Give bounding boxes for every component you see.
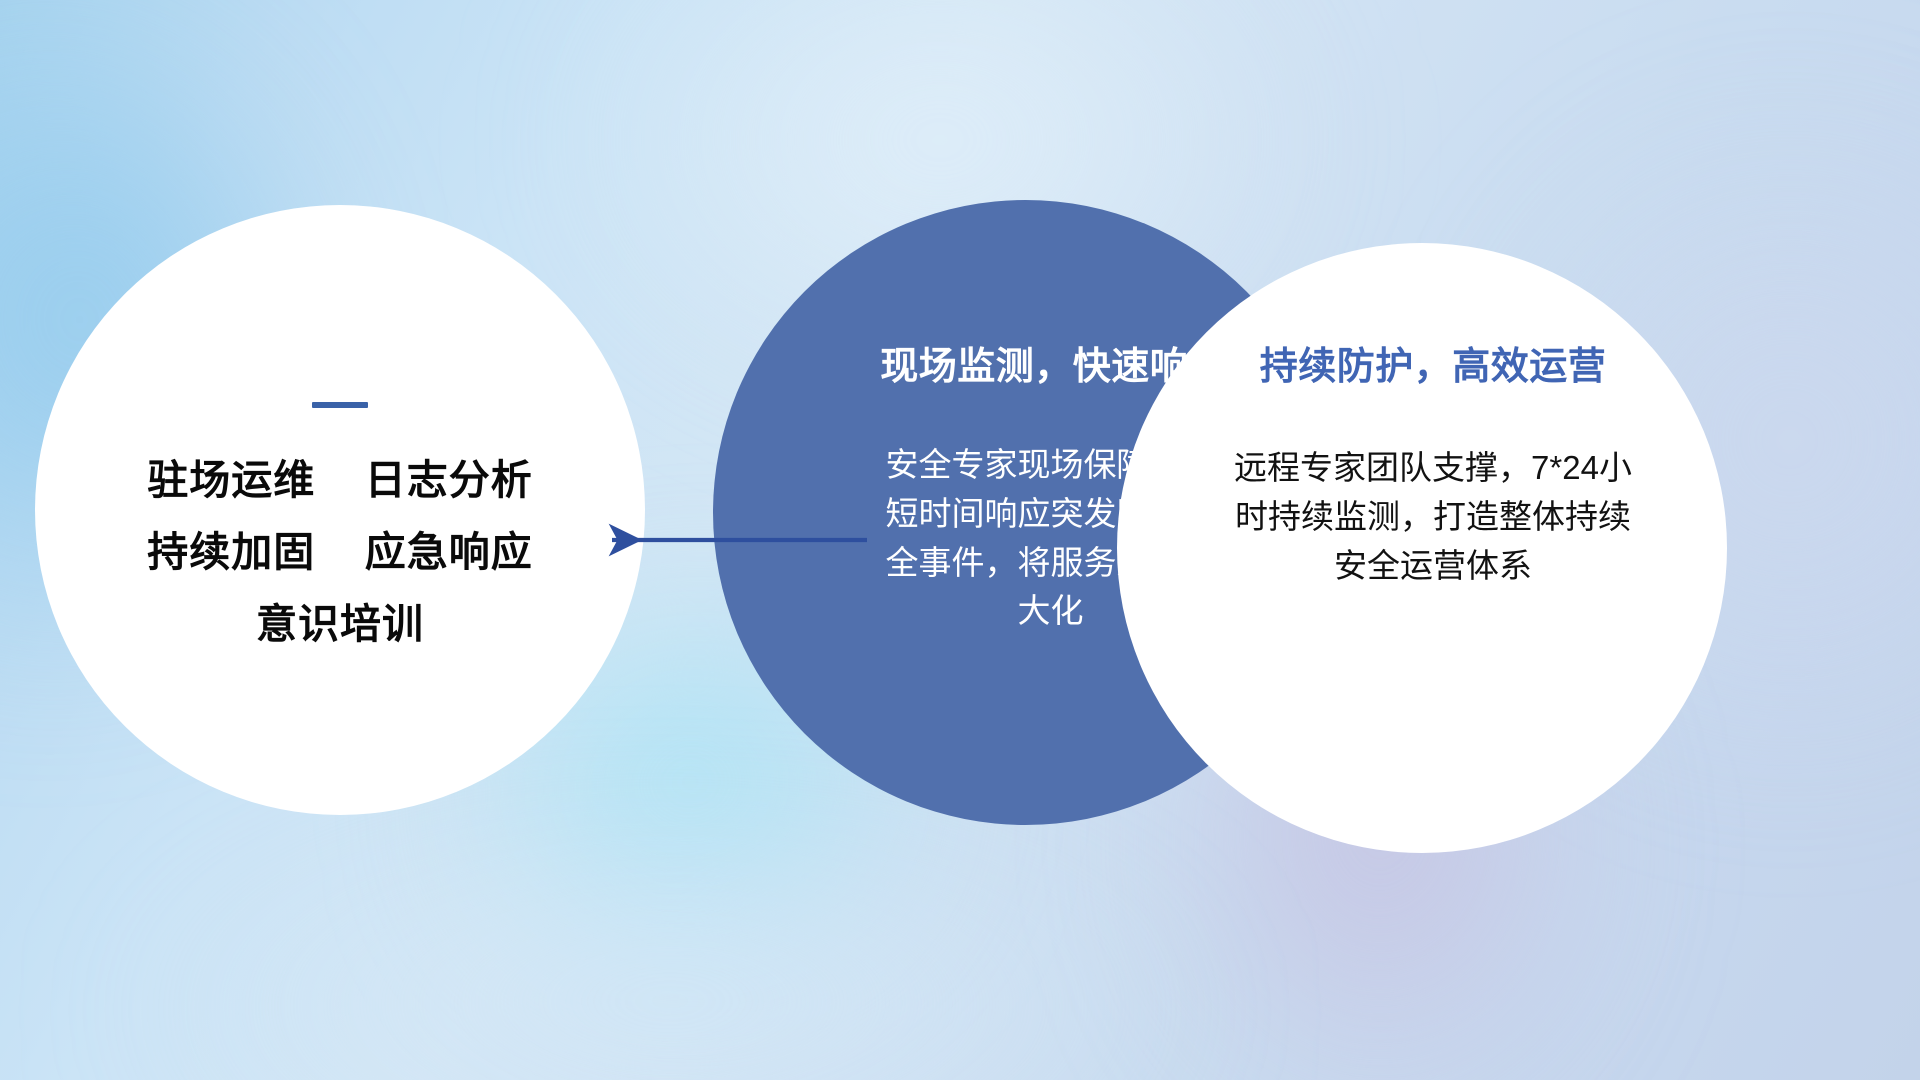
- capability-line-1: 驻场运维 日志分析: [147, 460, 533, 501]
- capability-line-2: 持续加固 应急响应: [147, 532, 533, 573]
- slide-canvas: 驻场运维 日志分析 持续加固 应急响应 意识培训 现场监测，快速响应 安全专家现…: [0, 0, 1920, 1080]
- capabilities-content: 驻场运维 日志分析 持续加固 应急响应 意识培训: [35, 205, 645, 815]
- continuous-content: 持续防护，高效运营 远程专家团队支撑，7*24小时持续监测，打造整体持续安全运营…: [1117, 243, 1727, 853]
- continuous-body: 远程专家团队支撑，7*24小时持续监测，打造整体持续安全运营体系: [1206, 444, 1638, 590]
- continuous-heading: 持续防护，高效运营: [1238, 348, 1607, 386]
- title-divider: [312, 402, 368, 408]
- background-blob-bottom: [120, 860, 1220, 1080]
- capability-line-3: 意识培训: [256, 604, 424, 645]
